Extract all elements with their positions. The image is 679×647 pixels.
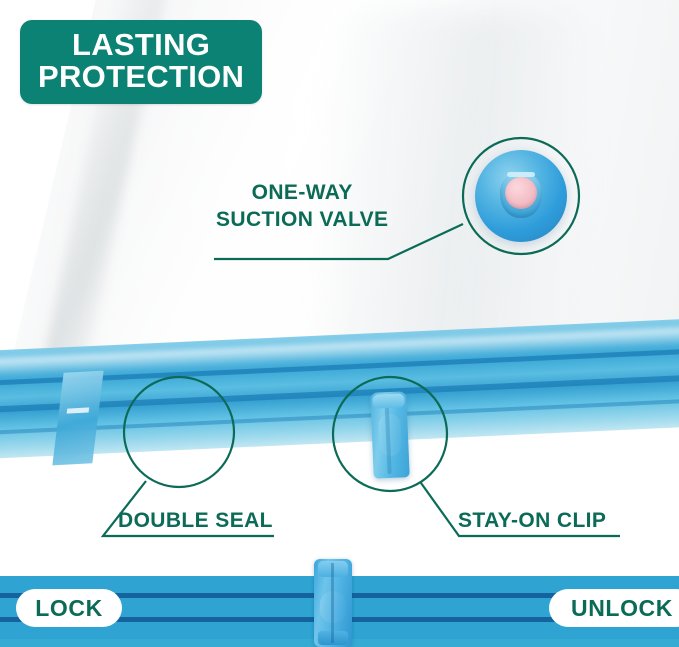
product-infographic: LASTING PROTECTION ONE-WAY SUCTION VALVE… [0,0,679,647]
callout-label-stay-on-clip-line-1: STAY-ON CLIP [458,508,606,535]
callout-label-suction-valve-line-1: ONE-WAY [216,180,388,207]
unlock-label-text: UNLOCK [571,595,673,622]
callout-label-suction-valve: ONE-WAY SUCTION VALVE [216,180,388,233]
lock-label-text: LOCK [35,595,103,622]
valve-cap [505,177,537,209]
zipper-slider [314,559,352,647]
badge-line-2: PROTECTION [38,61,244,93]
stay-on-clip-photo [370,391,410,478]
suction-valve-photo [475,150,567,242]
lock-label-pill: LOCK [16,589,122,627]
callout-label-suction-valve-line-2: SUCTION VALVE [216,207,388,234]
callout-label-double-seal-line-1: DOUBLE SEAL [118,508,273,535]
callout-label-double-seal: DOUBLE SEAL [118,508,273,535]
badge-line-1: LASTING [38,29,244,61]
callout-label-stay-on-clip: STAY-ON CLIP [458,508,606,535]
unlock-label-pill: UNLOCK [549,589,679,627]
lasting-protection-badge: LASTING PROTECTION [20,20,262,104]
